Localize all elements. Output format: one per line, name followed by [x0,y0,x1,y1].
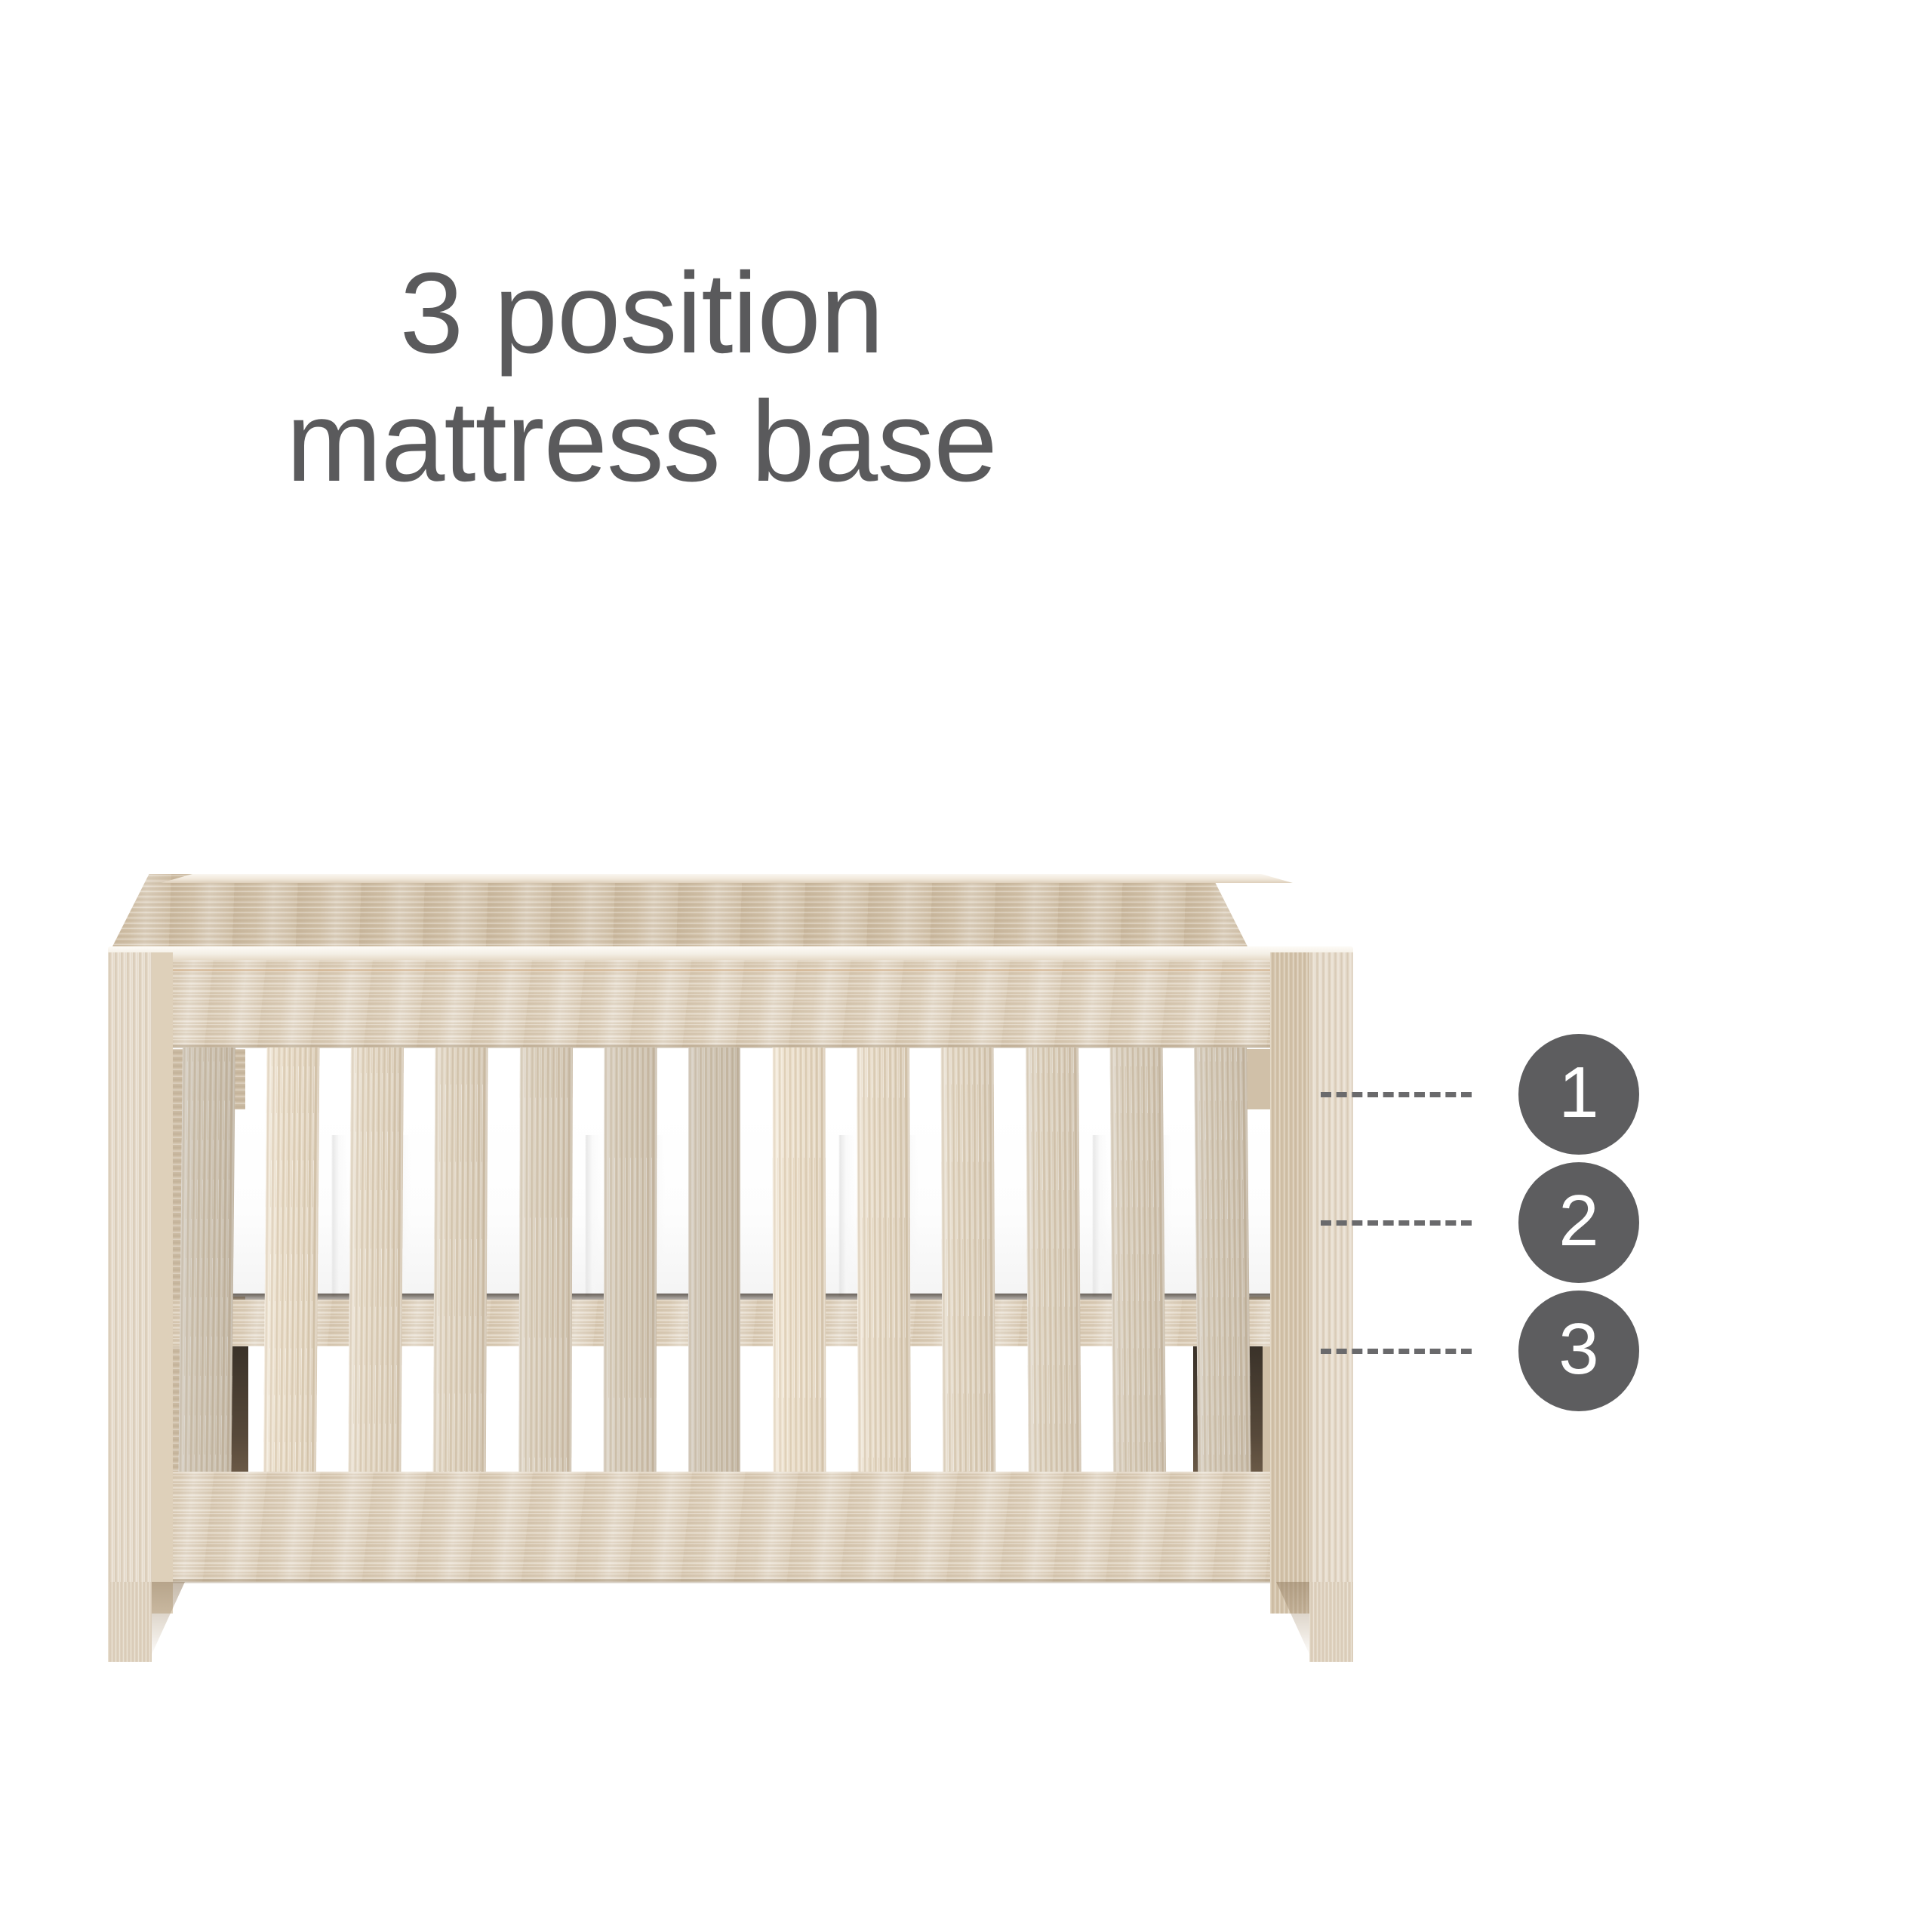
badge-position-2[interactable]: 2 [1518,1162,1639,1283]
crib-slat [348,1048,403,1508]
crib-slat [1109,1048,1165,1508]
crib-post-right-inner-face [1270,952,1311,1614]
crib-slat [1194,1048,1251,1508]
badge-position-1[interactable]: 1 [1518,1034,1639,1155]
crib-slat [773,1048,826,1508]
crib-bottom-panel [108,1472,1353,1582]
page-title-line-1: 3 position [0,249,1283,377]
leader-line-1 [1321,1092,1472,1097]
crib-slat [1026,1048,1081,1508]
crib-slat [263,1048,319,1508]
crib-slat [941,1048,996,1508]
callout-position-2: 2 [1321,1162,1639,1283]
leader-line-2 [1321,1220,1472,1226]
crib-post-left-inner-face [150,952,173,1614]
crib-teething-guard [108,946,1353,960]
leader-line-3 [1321,1349,1472,1354]
crib-rail-seam [114,969,1347,971]
page-title: 3 position mattress base [0,249,1283,506]
callout-position-1: 1 [1321,1034,1639,1155]
callout-position-3: 3 [1321,1291,1639,1411]
crib-front-top-rail [108,952,1353,1048]
crib-corner-post-left [108,952,152,1614]
badge-position-3[interactable]: 3 [1518,1291,1639,1411]
crib-bottom-panel-shadow [108,1579,1353,1583]
page-title-line-2: mattress base [0,377,1283,506]
crib-slat [688,1048,741,1508]
crib-slat [178,1048,235,1508]
crib-slats [108,1048,1353,1508]
crib-slat [518,1048,572,1508]
crib-leg-shoulder-left [152,1582,185,1654]
crib-slat [857,1048,910,1508]
crib-back-rail-top-edge [161,874,1293,883]
crib-leg-right [1309,1582,1353,1662]
crib-slat [433,1048,488,1508]
crib-product-image [108,874,1353,1614]
crib-slat [603,1048,656,1508]
crib-back-rail [108,874,1252,955]
crib-leg-left [108,1582,152,1662]
crib-leg-shoulder-right [1276,1582,1309,1654]
